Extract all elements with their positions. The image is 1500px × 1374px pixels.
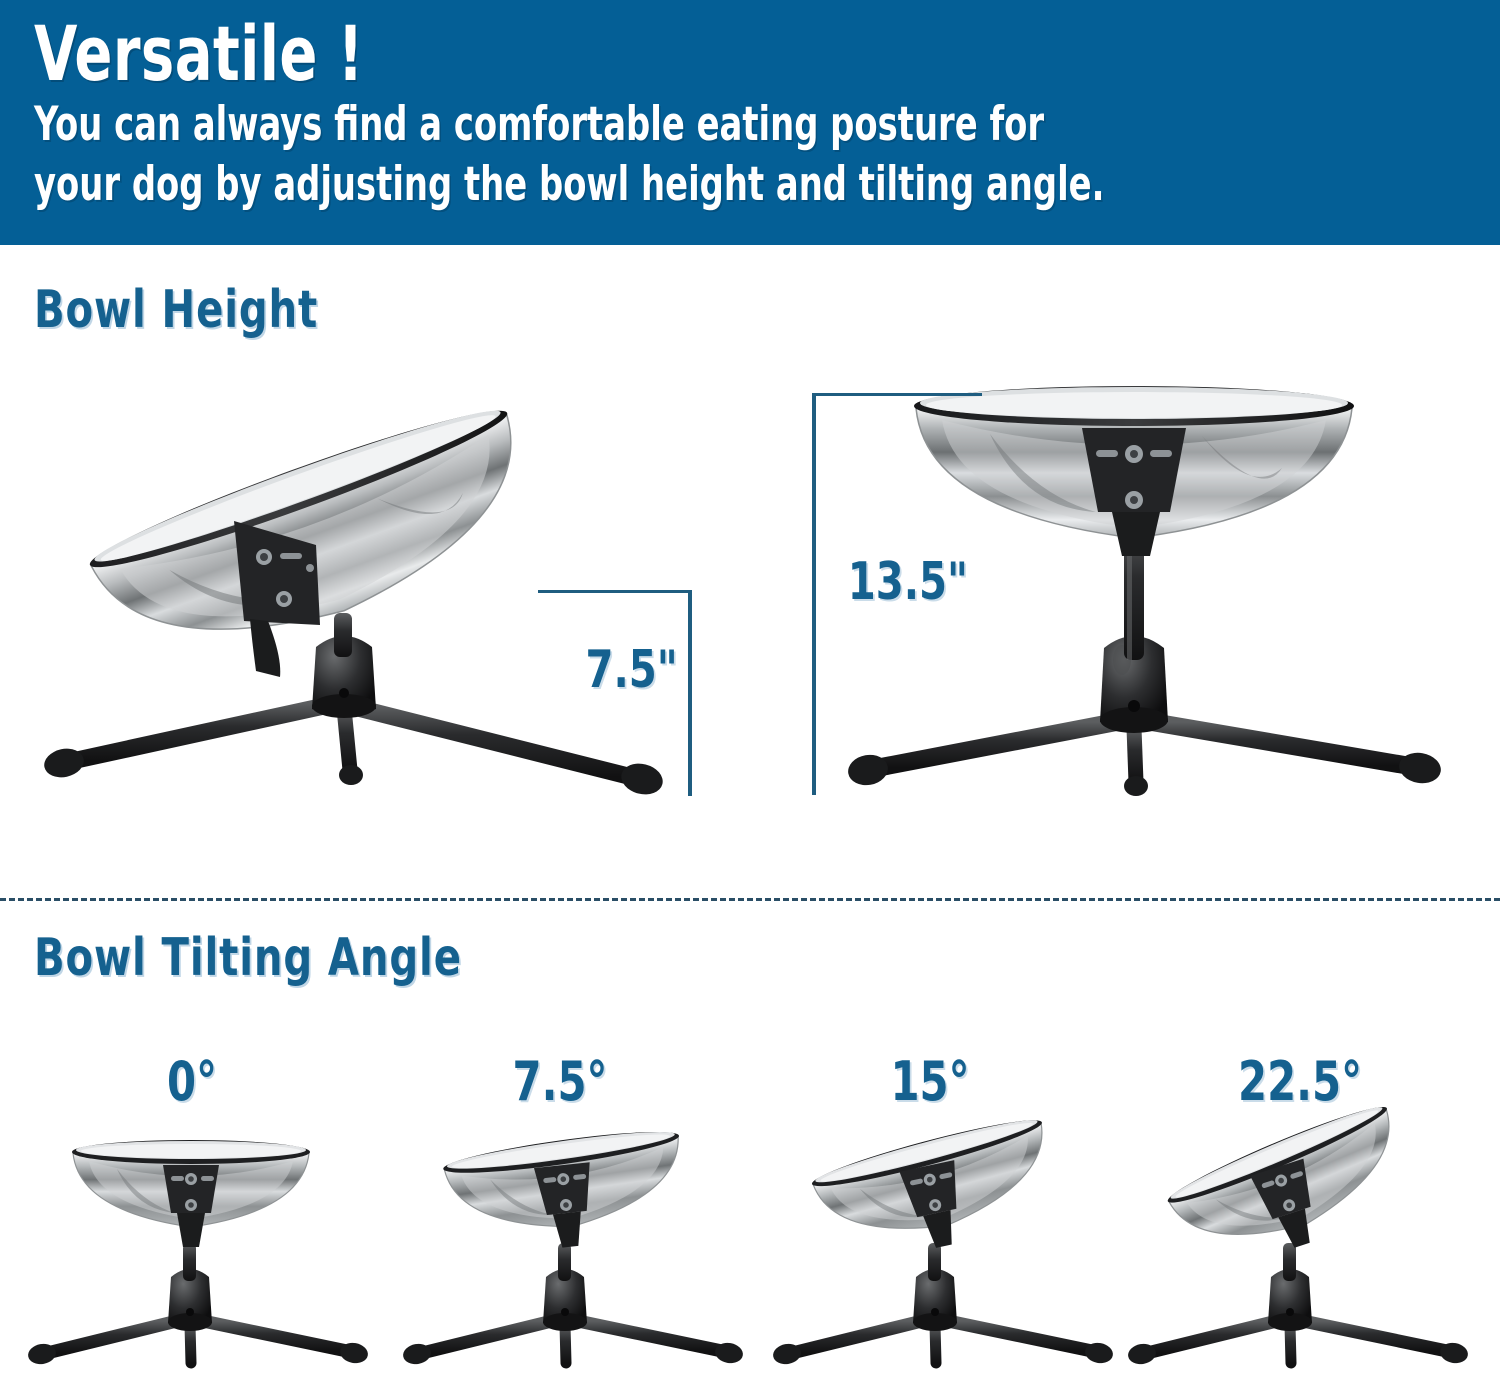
angle-label-7-5: 7.5° bbox=[474, 1050, 646, 1113]
angle-label-15: 15° bbox=[844, 1050, 1016, 1113]
bowl-assembly bbox=[83, 394, 552, 687]
product-image-tilt-7-5 bbox=[400, 1125, 770, 1370]
tilt-7-5-illustration bbox=[400, 1125, 770, 1370]
product-image-tilt-15 bbox=[770, 1125, 1140, 1370]
dimension-vertical-line bbox=[688, 590, 692, 796]
dimension-label-7-5-inch: 7.5" bbox=[586, 640, 678, 700]
tilt-0-illustration bbox=[25, 1125, 395, 1370]
banner-subtitle-line-2: your dog by adjusting the bowl height an… bbox=[34, 156, 1183, 213]
tripod-legs bbox=[846, 722, 1444, 796]
center-pole bbox=[334, 613, 352, 657]
product-image-bowl-low bbox=[20, 425, 560, 800]
center-pole bbox=[558, 1243, 571, 1281]
banner-subtitle-line-1: You can always find a comfortable eating… bbox=[34, 96, 1183, 153]
mounting-bracket bbox=[163, 1165, 219, 1247]
mounting-bracket bbox=[1082, 428, 1186, 556]
product-image-tilt-22-5 bbox=[1125, 1125, 1495, 1370]
dimension-tick-line bbox=[538, 590, 692, 593]
banner-title: Versatile ! bbox=[34, 18, 1212, 90]
angle-label-0: 0° bbox=[106, 1050, 278, 1113]
center-pole bbox=[928, 1243, 941, 1281]
dimension-label-13-5-inch: 13.5" bbox=[848, 552, 968, 612]
infographic-page: Versatile ! You can always find a comfor… bbox=[0, 0, 1500, 1374]
angle-label-22-5: 22.5° bbox=[1214, 1050, 1386, 1113]
center-pole bbox=[1283, 1243, 1296, 1281]
section-heading-bowl-tilting-angle: Bowl Tilting Angle bbox=[34, 928, 462, 988]
tilt-22-5-illustration bbox=[1125, 1125, 1495, 1370]
center-pole bbox=[183, 1243, 196, 1281]
tilt-15-illustration bbox=[770, 1125, 1140, 1370]
section-heading-bowl-height: Bowl Height bbox=[34, 280, 318, 340]
product-image-tilt-0 bbox=[25, 1125, 395, 1370]
header-banner: Versatile ! You can always find a comfor… bbox=[0, 0, 1500, 245]
dimension-vertical-line bbox=[812, 393, 816, 795]
mounting-bracket bbox=[234, 521, 320, 677]
section-divider bbox=[0, 898, 1500, 901]
bowl-low-illustration bbox=[20, 425, 560, 800]
dimension-tick-line bbox=[812, 393, 982, 396]
